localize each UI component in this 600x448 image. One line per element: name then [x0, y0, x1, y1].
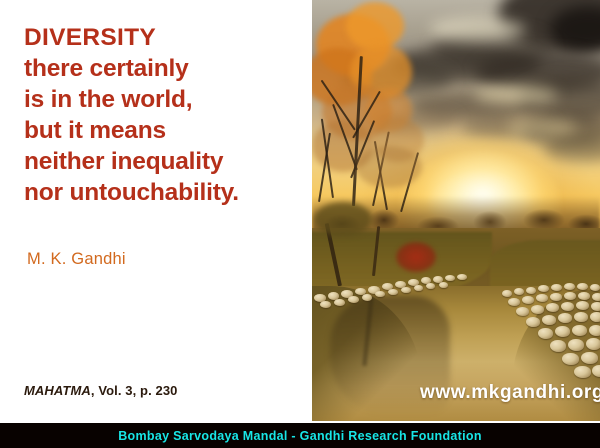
quote-line-2: there certainly [24, 53, 294, 84]
cloud-highlight [474, 86, 558, 104]
quote-line-3: is in the world, [24, 84, 294, 115]
quote-line-4: but it means [24, 115, 294, 146]
citation-work-title: MAHATMA [24, 383, 91, 398]
quote-panel: DIVERSITY there certainly is in the worl… [0, 0, 312, 423]
sunset-river-photo: www.mkgandhi.org [312, 0, 600, 421]
autumn-foliage [346, 2, 404, 50]
cloud-highlight [430, 18, 526, 40]
park-tree-canopy [314, 202, 372, 236]
secondary-foliage [356, 146, 422, 188]
citation-volume-page: , Vol. 3, p. 230 [91, 383, 178, 398]
source-citation: MAHATMA, Vol. 3, p. 230 [24, 383, 178, 398]
website-watermark: www.mkgandhi.org [420, 382, 600, 404]
quote-text-block: DIVERSITY there certainly is in the worl… [24, 22, 294, 208]
quote-line-6: nor untouchability. [24, 177, 294, 208]
footer-bar: Bombay Sarvodaya Mandal - Gandhi Researc… [0, 423, 600, 448]
author-attribution: M. K. Gandhi [27, 250, 126, 269]
cloud-highlight [508, 120, 578, 134]
footer-organization-text: Bombay Sarvodaya Mandal - Gandhi Researc… [118, 429, 482, 443]
red-shrub [396, 242, 436, 272]
gandhi-quote-poster: DIVERSITY there certainly is in the worl… [0, 0, 600, 448]
quote-line-5: neither inequality [24, 146, 294, 177]
quote-line-1: DIVERSITY [24, 22, 294, 53]
